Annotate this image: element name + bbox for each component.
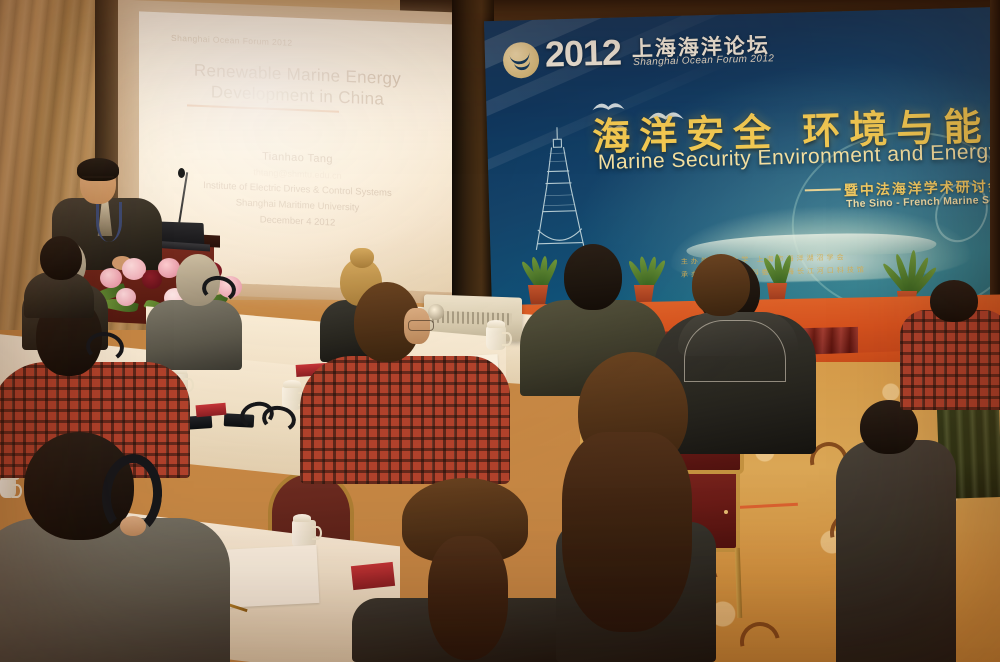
conference-photo: Shanghai Ocean Forum 2012 Renewable Mari… <box>0 0 1000 662</box>
audience-person-plaid-right <box>900 280 1000 410</box>
audience-person-far-right <box>836 400 956 662</box>
person-hand-writing <box>120 516 146 536</box>
audience-person-long-hair-right <box>556 352 716 662</box>
banner-year: 2012 <box>544 31 621 75</box>
slide-kicker: Shanghai Ocean Forum 2012 <box>171 33 438 54</box>
slide-body: Tianhao Tang thtang@shmtu.edu.cn Institu… <box>157 143 438 235</box>
audience-person-ponytail-center <box>352 478 578 662</box>
ocean-wave-logo-icon <box>503 42 540 79</box>
eiffel-tower-graphic <box>531 125 586 252</box>
audience-person-far-left-back <box>24 236 94 316</box>
person-glasses <box>408 320 434 331</box>
audience-person-stage-back <box>686 254 756 320</box>
audience-person-plaid-center <box>300 282 510 482</box>
speaker-glasses <box>82 176 114 186</box>
speaker-lanyard <box>96 202 122 242</box>
teacup-5 <box>292 520 316 548</box>
audience-person-writing <box>0 432 230 662</box>
microphone-head <box>178 168 185 178</box>
